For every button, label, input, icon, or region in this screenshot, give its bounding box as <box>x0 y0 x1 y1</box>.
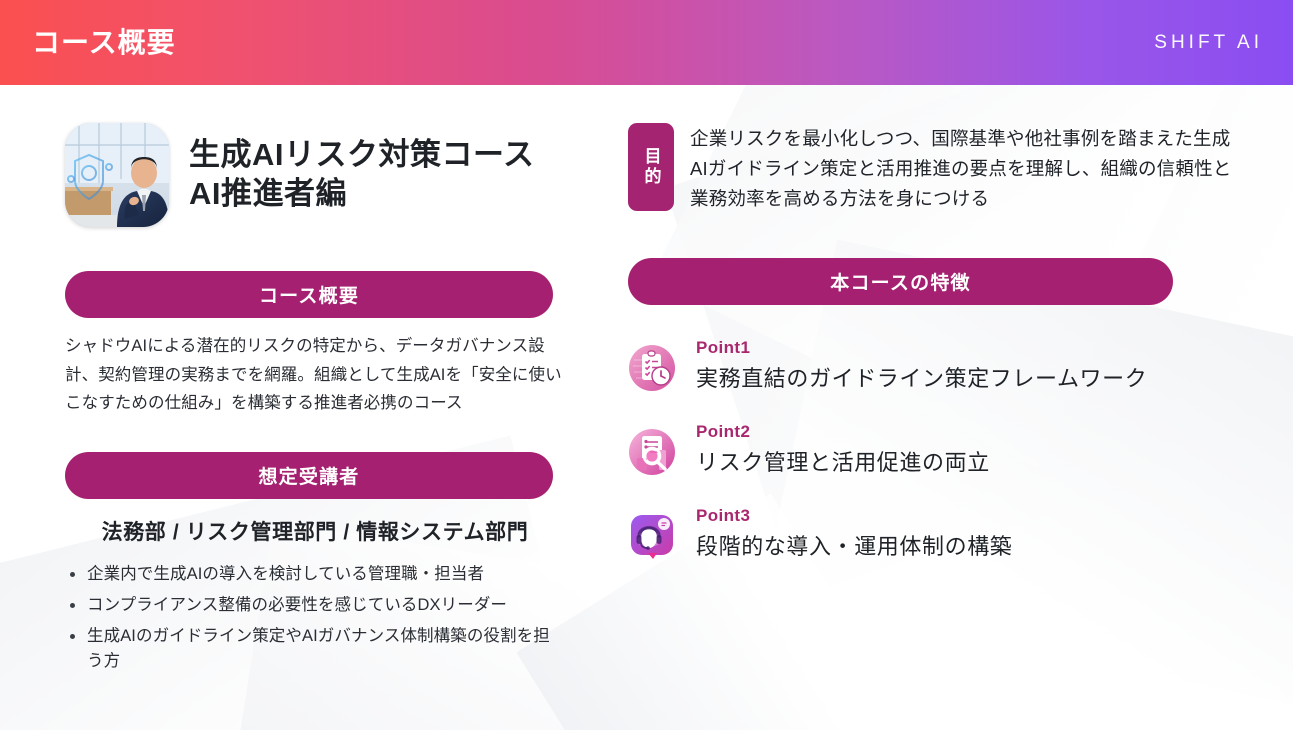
course-title-row: 生成AIリスク対策コース AI推進者編 <box>65 123 565 227</box>
list-item: 企業内で生成AIの導入を検討している管理職・担当者 <box>65 562 565 588</box>
headset-support-icon <box>628 512 676 560</box>
point-body: Point3 段階的な導入・運用体制の構築 <box>696 507 1012 561</box>
document-magnifier-icon <box>628 428 676 476</box>
list-item: Point3 段階的な導入・運用体制の構築 <box>628 507 1243 561</box>
section-pill-features-label: 本コースの特徴 <box>830 268 970 295</box>
overview-text: シャドウAIによる潜在的リスクの特定から、データガバナンス設計、契約管理の実務ま… <box>65 332 565 418</box>
right-column: 目的 企業リスクを最小化しつつ、国際基準や他社事例を踏まえた生成AIガイドライン… <box>628 123 1243 592</box>
businessman-photo-icon <box>65 123 169 227</box>
left-column: 生成AIリスク対策コース AI推進者編 コース概要 シャドウAIによる潜在的リス… <box>65 123 565 680</box>
slide-course-overview: コース概要 SHIFT AI <box>0 0 1293 730</box>
page-title: コース概要 <box>32 29 176 57</box>
section-pill-audience: 想定受講者 <box>65 452 553 499</box>
slide-body: 生成AIリスク対策コース AI推進者編 コース概要 シャドウAIによる潜在的リス… <box>0 85 1293 730</box>
clipboard-clock-icon <box>628 344 676 392</box>
audience-list: 企業内で生成AIの導入を検討している管理職・担当者 コンプライアンス整備の必要性… <box>65 562 565 675</box>
course-title-line2: AI推進者編 <box>189 175 534 214</box>
section-pill-overview-label: コース概要 <box>259 281 359 308</box>
purpose-text: 企業リスクを最小化しつつ、国際基準や他社事例を踏まえた生成AIガイドライン策定と… <box>690 123 1243 214</box>
section-pill-overview: コース概要 <box>65 271 553 318</box>
list-item: Point1 実務直結のガイドライン策定フレームワーク <box>628 339 1243 393</box>
list-item: コンプライアンス整備の必要性を感じているDXリーダー <box>65 593 565 619</box>
point-text: 実務直結のガイドライン策定フレームワーク <box>696 365 1147 394</box>
brand-logo: SHIFT AI <box>1154 33 1263 52</box>
purpose-block: 目的 企業リスクを最小化しつつ、国際基準や他社事例を踏まえた生成AIガイドライン… <box>628 123 1243 214</box>
section-pill-features: 本コースの特徴 <box>628 258 1173 305</box>
slide-header: コース概要 SHIFT AI <box>0 0 1293 85</box>
list-item: Point2 リスク管理と活用促進の両立 <box>628 423 1243 477</box>
purpose-badge: 目的 <box>628 123 674 211</box>
feature-points-list: Point1 実務直結のガイドライン策定フレームワーク <box>628 339 1243 562</box>
course-title-line1: 生成AIリスク対策コース <box>189 136 534 175</box>
audience-departments: 法務部 / リスク管理部門 / 情報システム部門 <box>65 516 565 546</box>
list-item: 生成AIのガイドライン策定やAIガバナンス体制構築の役割を担う方 <box>65 624 565 675</box>
point-body: Point2 リスク管理と活用促進の両立 <box>696 423 990 477</box>
course-title: 生成AIリスク対策コース AI推進者編 <box>189 136 534 214</box>
point-text: 段階的な導入・運用体制の構築 <box>696 533 1012 562</box>
point-label: Point1 <box>696 339 1147 358</box>
point-label: Point3 <box>696 507 1012 526</box>
section-pill-audience-label: 想定受講者 <box>258 462 359 489</box>
point-body: Point1 実務直結のガイドライン策定フレームワーク <box>696 339 1147 393</box>
point-text: リスク管理と活用促進の両立 <box>696 449 990 478</box>
point-label: Point2 <box>696 423 990 442</box>
